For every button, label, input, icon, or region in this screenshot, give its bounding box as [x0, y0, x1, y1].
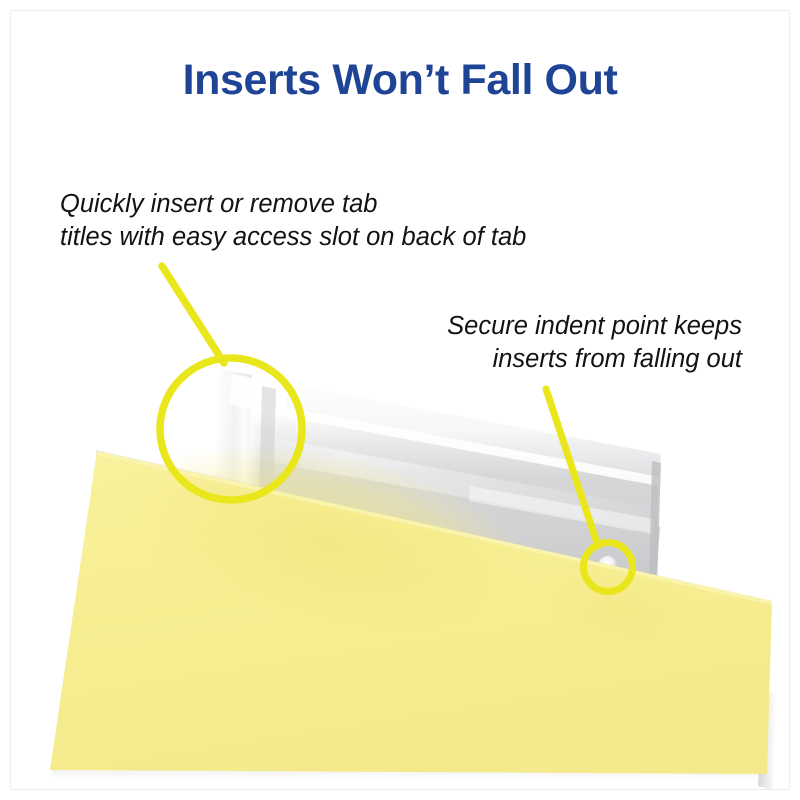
product-illustration: [0, 0, 800, 800]
callout-left-line-1: Quickly insert or remove tab: [60, 188, 526, 221]
product-feature-graphic: Inserts Won’t Fall Out Quickly insert or…: [0, 0, 800, 800]
callout-leader-line-left: [162, 266, 224, 363]
callout-label-easy-access-slot: Quickly insert or remove tab titles with…: [60, 188, 526, 254]
callout-right-line-2: inserts from falling out: [447, 343, 742, 376]
page-title: Inserts Won’t Fall Out: [0, 56, 800, 105]
callout-right-line-1: Secure indent point keeps: [447, 310, 742, 343]
callout-left-line-2: titles with easy access slot on back of …: [60, 221, 526, 254]
callout-label-secure-indent-point: Secure indent point keeps inserts from f…: [447, 310, 742, 376]
